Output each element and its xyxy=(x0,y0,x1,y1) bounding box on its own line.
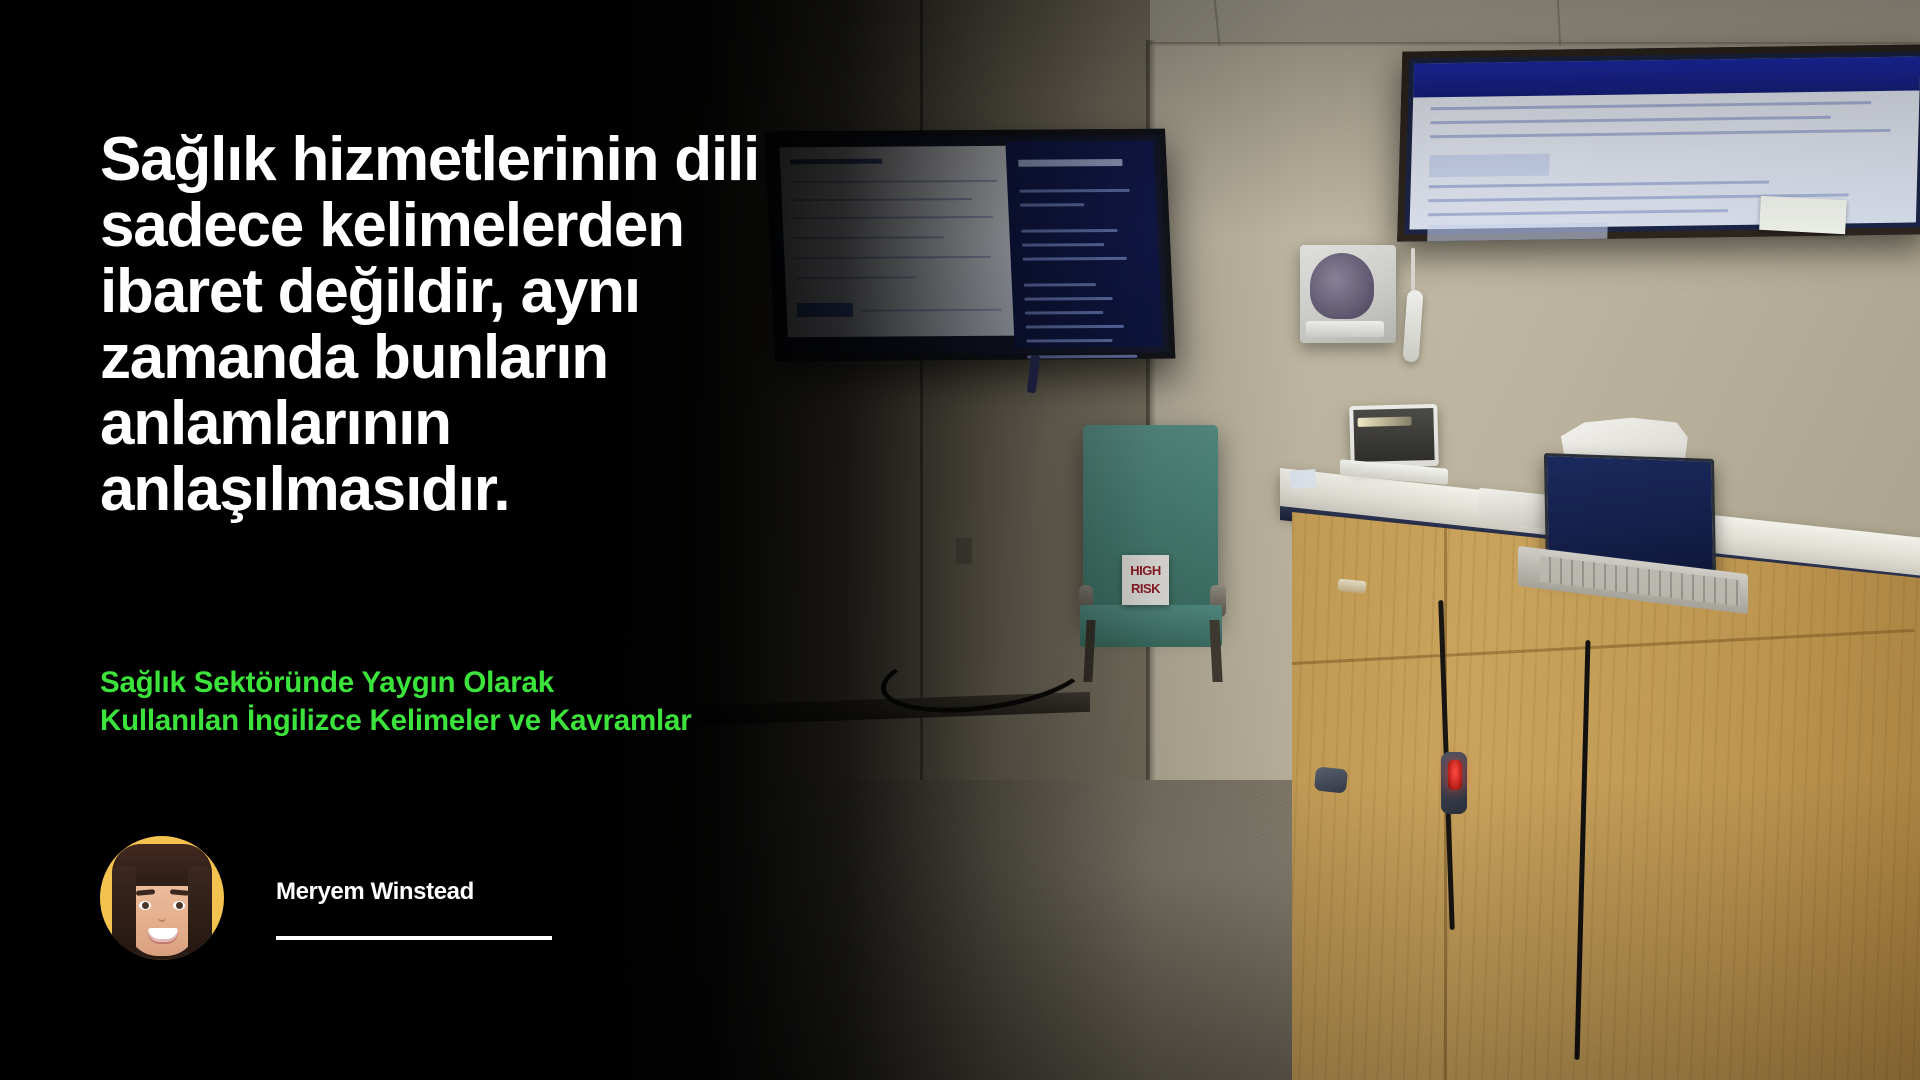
wall-sign-note xyxy=(1759,196,1847,234)
text-content-panel: Sağlık hizmetlerinin dili sadece kelimel… xyxy=(0,0,1020,1080)
wall-dispenser xyxy=(1300,245,1396,343)
byline: Meryem Winstead xyxy=(100,836,660,976)
monitor-right-title-bar xyxy=(1413,56,1920,97)
cabinet-knob xyxy=(1314,766,1348,793)
subtitle: Sağlık Sektöründe Yaygın Olarak Kullanıl… xyxy=(100,664,980,741)
led-indicator-red xyxy=(1448,760,1462,790)
author-name: Meryem Winstead xyxy=(276,878,474,906)
phone-cord xyxy=(1411,248,1415,296)
counter-paper-slip xyxy=(1289,469,1316,489)
page-title: Sağlık hizmetlerinin dili sadece kelimel… xyxy=(100,127,1000,523)
author-underline-rule xyxy=(276,936,552,940)
chair-sign-line-2: RISK xyxy=(1122,581,1169,596)
counter-cabinet-face xyxy=(1292,512,1920,1080)
exam-room-chair-seat xyxy=(1080,605,1222,647)
avatar xyxy=(100,836,224,960)
monitor-left-blue-pane xyxy=(1005,141,1162,348)
chair-sign-line-1: HIGH xyxy=(1122,563,1169,578)
chair-warning-sign: HIGH RISK xyxy=(1122,555,1169,605)
laptop-white-lid xyxy=(1349,404,1439,468)
